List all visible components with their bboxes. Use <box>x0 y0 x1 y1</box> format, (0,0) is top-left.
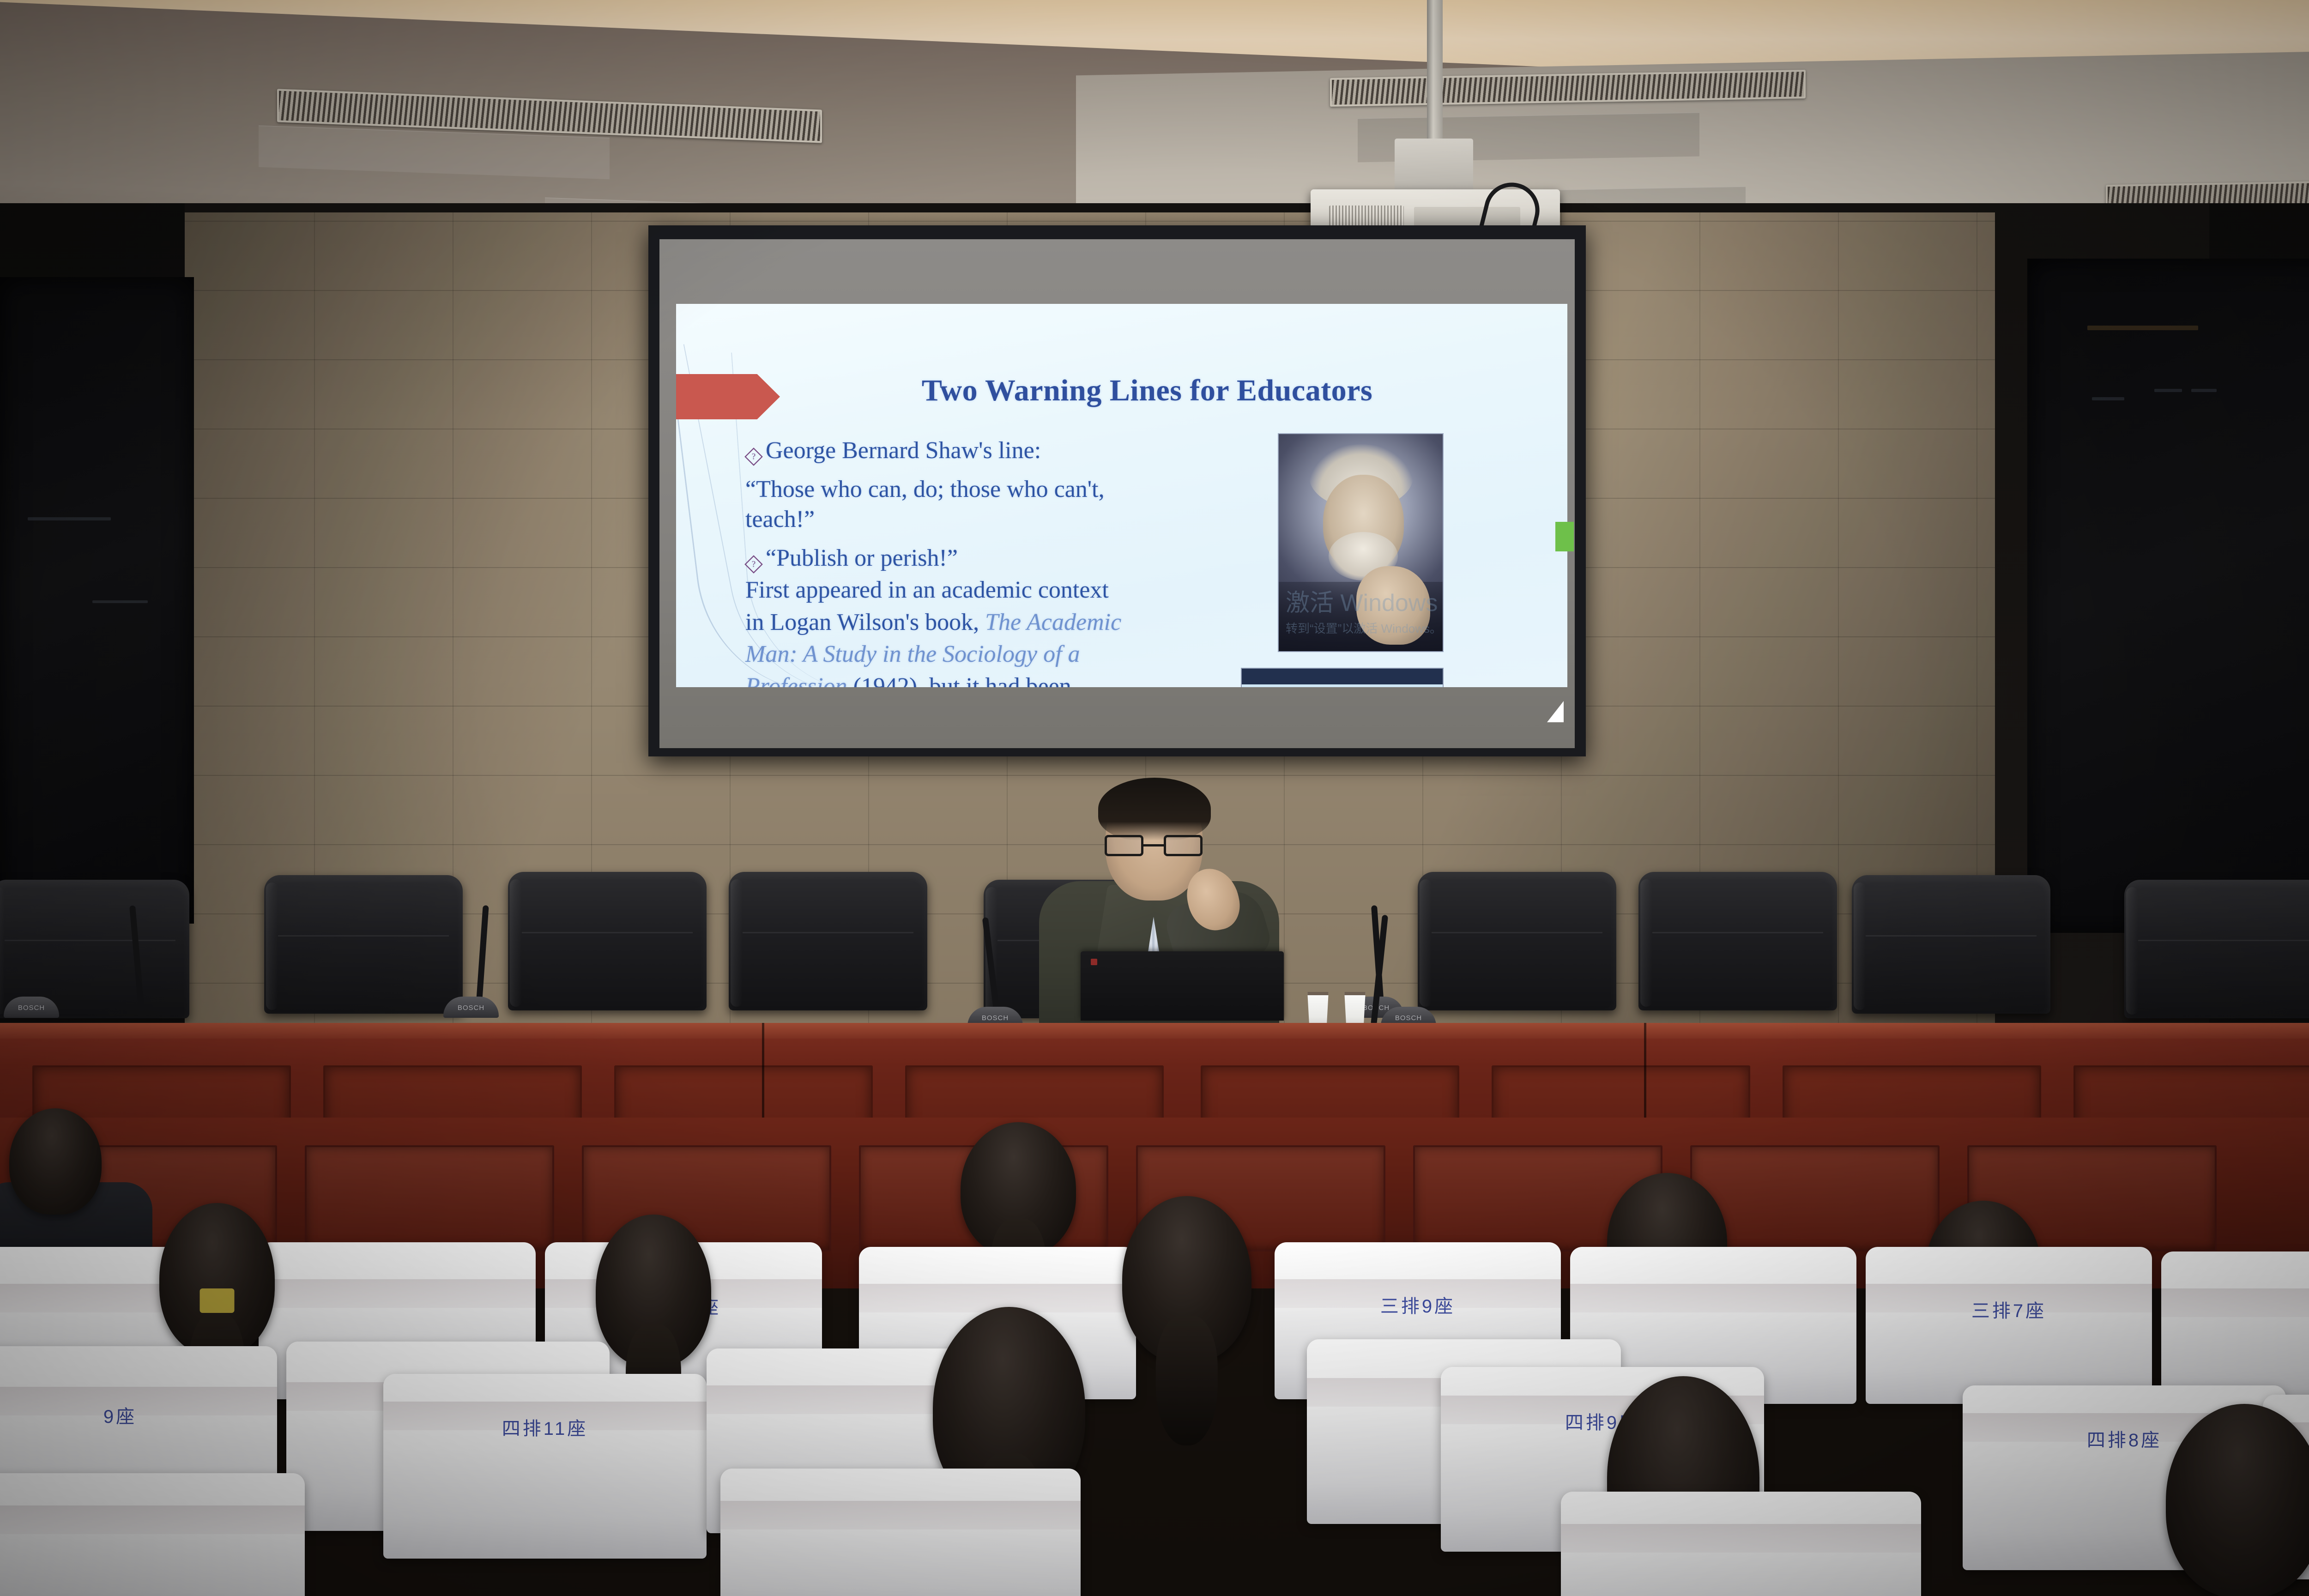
audience-head <box>9 1108 102 1215</box>
lecture-hall-scene: Two Warning Lines for Educators ?George … <box>0 0 2309 1596</box>
seat-label: 9座 <box>0 1402 277 1428</box>
slide-bullet-1: ?George Bernard Shaw's line: <box>745 435 1179 466</box>
diamond-bullet-icon: ? <box>744 447 763 466</box>
microphone-base: BOSCH <box>443 997 499 1018</box>
paper-cup <box>1343 992 1367 1027</box>
projector-bracket <box>1395 139 1473 194</box>
slide-para-italic: Profession <box>745 673 847 687</box>
presenter-laptop <box>1081 951 1284 1021</box>
slide-para-plain: in Logan Wilson's book, <box>745 609 985 635</box>
dais-chair <box>729 872 927 1010</box>
slide-paragraph-line-1: First appeared in an academic context <box>745 575 1179 605</box>
screen-surface: Two Warning Lines for Educators ?George … <box>659 239 1575 748</box>
chair-cover: 四排11座 <box>383 1374 707 1559</box>
book-cover-image: The ACADEMIC MAN A Study in the Sociolog… <box>1242 669 1443 687</box>
seat-label: 三排9座 <box>1275 1291 1561 1318</box>
slide-bullet-2-text: “Publish or perish!” <box>766 545 958 571</box>
paper-cup <box>1306 992 1330 1027</box>
dais-chair <box>1638 872 1837 1010</box>
slide-paragraph-line-4: Profession (1942), but it had been <box>745 671 1179 687</box>
chair-cover <box>0 1473 305 1596</box>
audience-head <box>1122 1196 1251 1362</box>
dais-chair <box>1852 875 2050 1014</box>
audience-head <box>596 1215 711 1367</box>
bench-panel <box>305 1145 554 1251</box>
slide-para-plain: (1942), but it had been <box>847 673 1071 687</box>
audience-head <box>961 1122 1076 1256</box>
dais-chair <box>508 872 707 1010</box>
slide-body: ?George Bernard Shaw's line: “Those who … <box>745 435 1179 687</box>
windows-activation-title: 激活 Windows <box>1286 590 1563 617</box>
microphone-base: BOSCH <box>4 997 59 1018</box>
seat-label: 四排11座 <box>383 1414 707 1440</box>
dais-chair <box>264 875 463 1014</box>
chair-cover <box>2161 1251 2309 1404</box>
diamond-bullet-icon: ? <box>744 555 763 574</box>
screen-corner-tab <box>1547 701 1564 722</box>
audience-head <box>159 1203 275 1355</box>
chair-cover: 三排7座 <box>1866 1247 2152 1404</box>
slide-paragraph-line-2: in Logan Wilson's book, The Academic <box>745 607 1179 638</box>
chair-cover <box>1561 1492 1921 1596</box>
seat-label: 三排7座 <box>1866 1296 2152 1323</box>
slide-bullet-2: ?“Publish or perish!” <box>745 543 1179 574</box>
bench-panel <box>1690 1145 1940 1251</box>
chair-cover <box>720 1469 1081 1596</box>
windows-activation-watermark: 激活 Windows 转到“设置”以激活 Windows。 <box>1286 590 1563 636</box>
slide-para-italic: The Academic <box>985 609 1121 635</box>
slide-title: Two Warning Lines for Educators <box>875 373 1420 408</box>
eyeglasses-icon <box>1105 835 1203 856</box>
projection-screen: Two Warning Lines for Educators ?George … <box>648 225 1586 756</box>
dais-chair <box>2124 880 2309 1018</box>
presentation-slide: Two Warning Lines for Educators ?George … <box>676 304 1567 687</box>
windows-activation-subtitle: 转到“设置”以激活 Windows。 <box>1286 619 1563 636</box>
slide-quote-1: “Those who can, do; those who can't, tea… <box>745 474 1179 535</box>
slide-paragraph-line-3: Man: A Study in the Sociology of a <box>745 639 1179 670</box>
glass-panel-right <box>2027 259 2309 933</box>
dais-chair <box>1418 872 1616 1010</box>
glass-panel-left <box>0 277 194 924</box>
green-wall-marker <box>1555 522 1574 551</box>
slide-bullet-1-text: George Bernard Shaw's line: <box>766 437 1041 464</box>
